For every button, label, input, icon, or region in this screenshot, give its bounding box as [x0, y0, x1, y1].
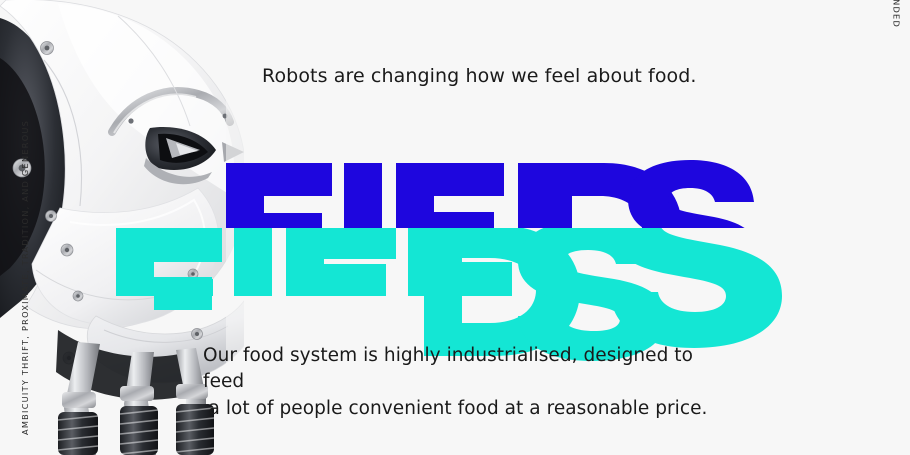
poster-canvas: Robots are changing how we feel about fo… [0, 0, 910, 455]
fields-letters-blue [226, 160, 760, 228]
right-vertical-caption-text: THIN, LIGHT, REGULAR, SEMIBOLD, BOLD, BL… [892, 0, 902, 28]
left-vertical-caption: AMBICUITY THRIFT, PROXIMATE, TRADITION, … [20, 120, 30, 435]
kicker-headline: Robots are changing how we feel about fo… [262, 64, 697, 89]
body-copy: Our food system is highly industrialised… [203, 343, 713, 422]
body-copy-line-1: Our food system is highly industrialised… [203, 343, 713, 396]
body-copy-line-2: a lot of people convenient food at a rea… [203, 396, 713, 422]
right-vertical-caption: THIN, LIGHT, REGULAR, SEMIBOLD, BOLD, BL… [892, 0, 902, 28]
